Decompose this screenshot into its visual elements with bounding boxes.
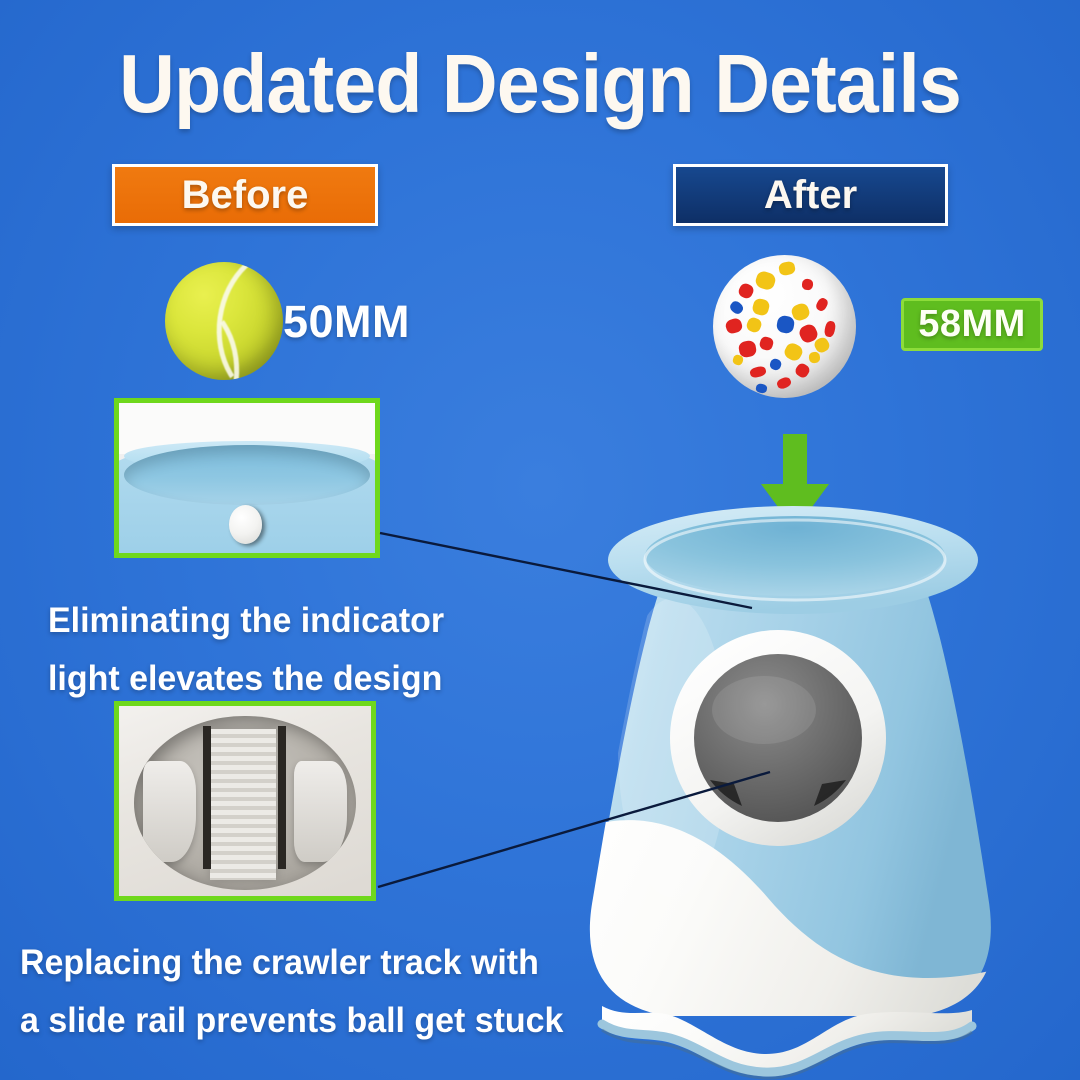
callout-leader-lines	[0, 0, 1080, 1080]
infographic-canvas: Updated Design Details Before After 50MM…	[0, 0, 1080, 1080]
leader-line-crawler-track	[378, 772, 770, 887]
leader-line-indicator-light	[380, 533, 752, 608]
